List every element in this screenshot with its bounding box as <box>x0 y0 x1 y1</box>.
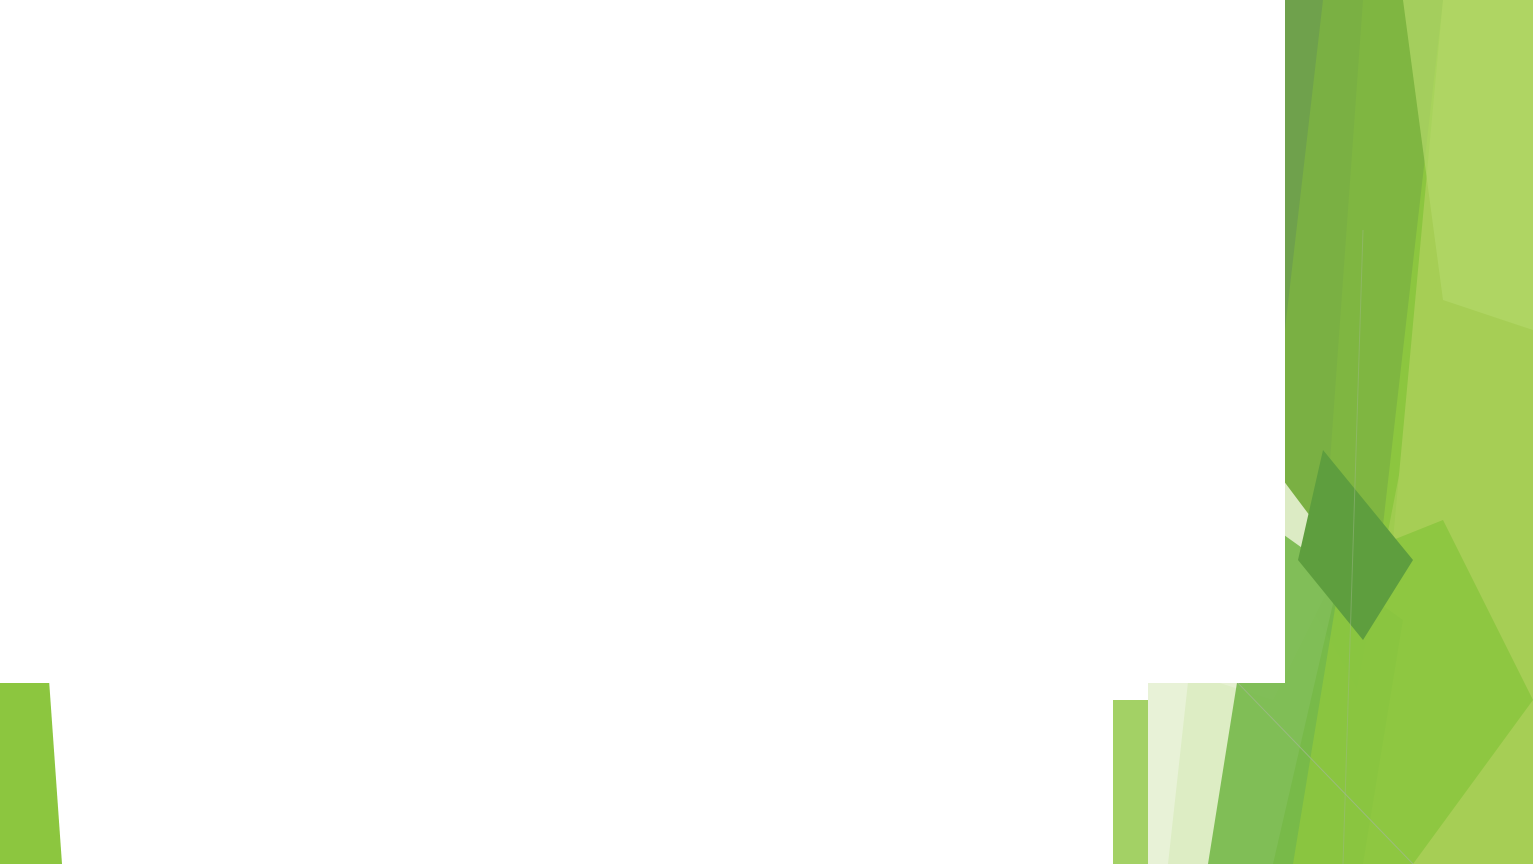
content-card <box>0 0 1285 683</box>
presentation-slide: ТЕОРИЯ, НЕОБХОДИМАЯ ДЛЯ ВЫПОЛНЕНИЯ ЗАДАН… <box>0 0 1533 864</box>
